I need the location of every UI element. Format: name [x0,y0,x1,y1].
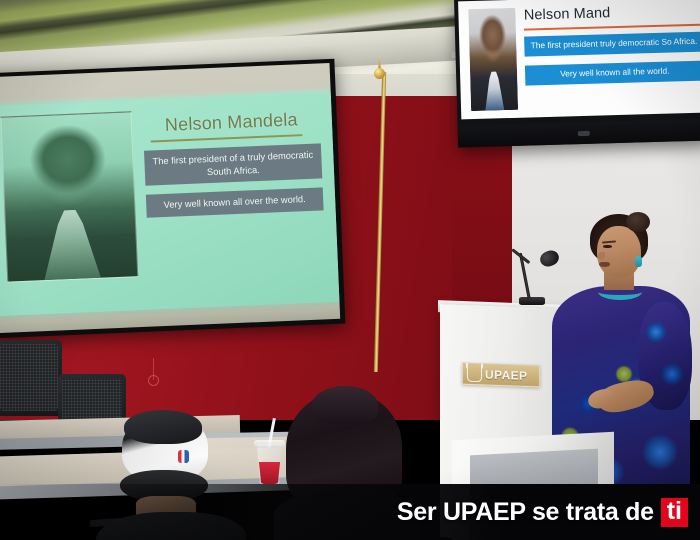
presenter-eye [603,245,612,248]
presenter-earring [635,256,642,267]
mandela-portrait-projected [0,111,138,283]
projection-surface: Nelson Mandela The first president of a … [0,63,340,333]
chair-left-1 [0,340,62,416]
tv-slide-bullet-1: The first president truly democratic So … [524,32,700,57]
projected-slide-divider [151,134,303,142]
mandela-portrait-tv [468,8,518,111]
flagpole-ball [374,68,385,79]
chair-mesh [0,344,58,411]
upaep-logo-plaque: UPAEP [462,363,540,388]
tv-slide-title: Nelson Mand [524,3,700,24]
upaep-plaque-label: UPAEP [485,367,527,382]
cap-top-panel [124,410,202,444]
flagpole-finial-icon [374,58,385,82]
tv-monitor: Nelson Mand The first president truly de… [454,0,700,147]
tv-slide-divider [524,24,700,31]
tv-slide-bullet-2: Very well known all the world. [525,61,700,86]
projected-slide-bullet-2: Very well known all over the world. [146,187,324,217]
tv-screen: Nelson Mand The first president truly de… [458,0,700,119]
photo-scene: Nelson Mandela The first president of a … [0,0,700,540]
projection-screen: Nelson Mandela The first president of a … [0,59,345,339]
presenter-necklace [598,284,642,300]
lower-third-banner: Ser UPAEP se trata de ti [0,484,700,540]
screen-pull-ring[interactable] [148,375,159,386]
projected-slide: Nelson Mandela The first president of a … [0,92,339,316]
banner-text: Ser UPAEP se trata de [397,498,654,527]
upaep-u-mark-icon [467,366,482,382]
projected-slide-bullet-1: The first president of a truly democrati… [144,143,322,185]
nba-logo-icon [178,450,189,463]
banner-highlight-ti: ti [661,498,688,527]
presenter-mouth [599,262,610,267]
projected-slide-title: Nelson Mandela [143,110,321,136]
presenter-hair-bun [626,212,650,232]
attendee-hair-top [312,386,378,424]
presenter-nose [598,252,605,260]
